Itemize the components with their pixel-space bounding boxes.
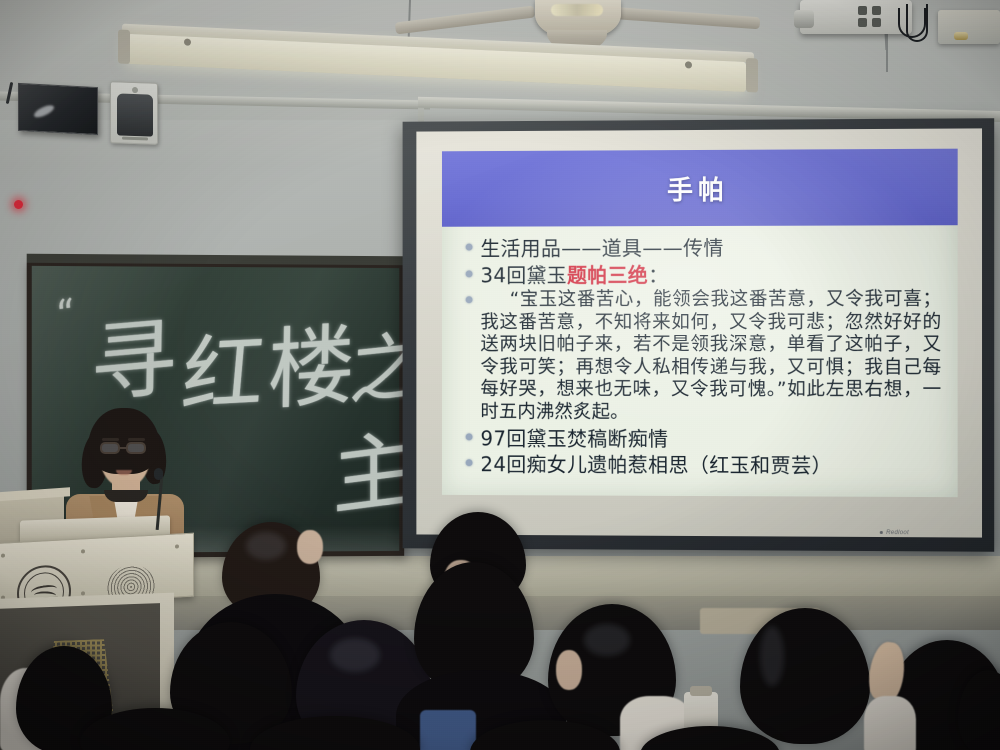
list-item: “宝玉这番苦心，能领会我这番苦意，又令我可喜；我这番苦意，不知将来如何，又令我可…: [460, 289, 942, 425]
list-item: 24回痴女儿遗帕惹相思（红玉和贾芸）: [460, 452, 942, 479]
presentation-slide: 手帕 生活用品——道具——传情 34回黛玉题帕三绝： “宝玉这番苦心，能领会我这…: [442, 149, 958, 497]
bullet-dot-icon: [466, 433, 473, 440]
chalk-char: “: [54, 292, 74, 340]
screen-bezel: 手帕 生活用品——道具——传情 34回黛玉题帕三绝： “宝玉这番苦心，能领会我这…: [416, 128, 982, 537]
wall-speaker-icon: [18, 83, 98, 135]
bullet-suffix: ：: [648, 263, 668, 287]
chalk-char: 红: [178, 305, 270, 429]
list-item: 生活用品——道具——传情: [460, 235, 942, 262]
list-item: 97回黛玉焚稿断痴情: [460, 426, 942, 453]
red-indicator-light: [14, 200, 23, 209]
audience-area: [0, 520, 1000, 750]
highlight-text: 题帕三绝: [567, 263, 648, 287]
page-title: 手帕: [667, 169, 729, 206]
bullet-dot-icon: [466, 459, 473, 466]
projection-screen: 手帕 生活用品——道具——传情 34回黛玉题帕三绝： “宝玉这番苦心，能领会我这…: [403, 118, 995, 552]
bullet-label: 生活用品——道具——传情: [480, 236, 723, 262]
chalk-char: 楼: [267, 294, 356, 427]
list-item: 34回黛玉题帕三绝：: [460, 262, 942, 288]
bullet-dot-icon: [466, 296, 473, 303]
eyeglasses-icon: [126, 442, 146, 454]
projector-cable: [906, 4, 928, 42]
bullet-dot-icon: [466, 244, 473, 251]
chalk-char: 寻: [90, 287, 178, 420]
bullet-dot-icon: [466, 270, 473, 277]
lecture-hall-photo: “ 寻 红 楼 之 主 手帕 生活用品——道具——传情: [0, 0, 1000, 750]
slide-body: 生活用品——道具——传情 34回黛玉题帕三绝： “宝玉这番苦心，能领会我这番苦意…: [442, 225, 958, 497]
student-head: [740, 608, 870, 744]
slide-title-bar: 手帕: [442, 149, 958, 227]
bullet-label: 97回黛玉焚稿断痴情: [480, 426, 668, 452]
quotation-text: “宝玉这番苦心，能领会我这番苦意，又令我可喜；我这番苦意，不知将来如何，又令我可…: [480, 289, 941, 425]
ceiling-equipment-box: [938, 10, 1000, 44]
sensor-panel-icon[interactable]: [110, 81, 158, 145]
bullet-label: 34回黛玉题帕三绝：: [480, 263, 668, 289]
eyeglasses-icon: [100, 442, 120, 454]
bullet-label: 24回痴女儿遗帕惹相思（红玉和贾芸）: [480, 452, 832, 479]
microphone-head: [154, 468, 163, 480]
bullet-prefix: 34回黛玉: [480, 263, 567, 287]
